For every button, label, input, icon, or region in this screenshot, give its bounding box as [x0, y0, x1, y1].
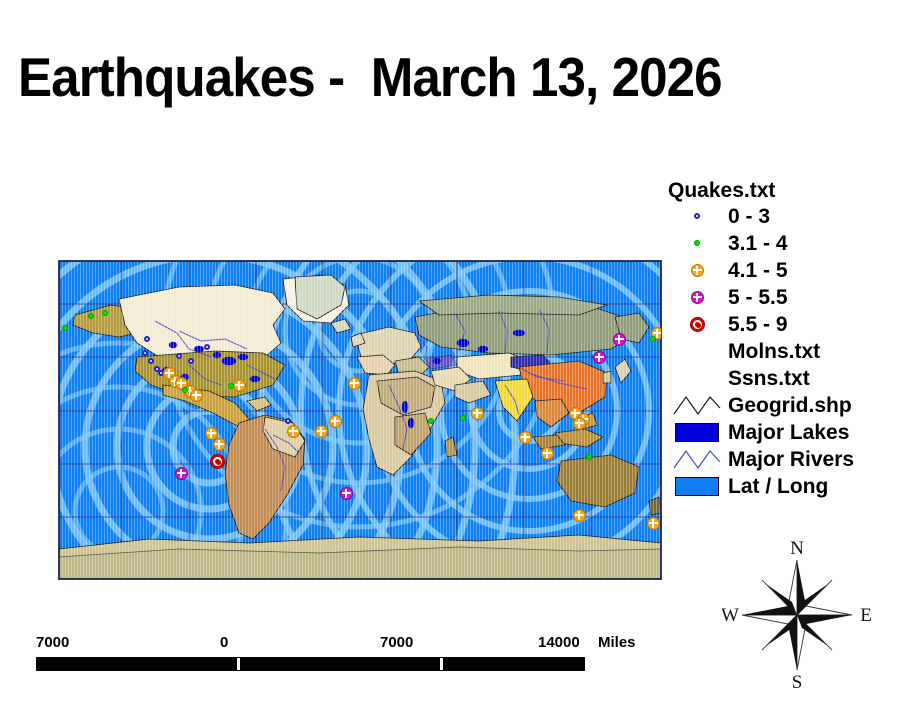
quake-marker-0-3[interactable] — [148, 358, 154, 364]
scale-label-1: 0 — [220, 634, 228, 651]
scale-label-2: 7000 — [380, 634, 413, 651]
world-map-graphic — [59, 261, 661, 579]
quake-marker-4.1-5[interactable] — [213, 438, 226, 451]
quake-marker-3.1-4[interactable] — [182, 387, 188, 393]
legend-symbol-cell — [666, 423, 728, 442]
scale-bar-labels: 7000 0 7000 14000 Miles — [36, 634, 636, 654]
quake-marker-4.1-5[interactable] — [348, 377, 361, 390]
quake-marker-0-3[interactable] — [142, 350, 148, 356]
black-zigzag-line-icon — [673, 394, 721, 416]
quake-marker-5-5.5[interactable] — [593, 351, 606, 364]
legend-layers: Molns.txtSsns.txtGeogrid.shpMajor LakesM… — [666, 338, 912, 500]
quake-marker-4.1-5[interactable] — [573, 417, 586, 430]
legend-label: Lat / Long — [728, 476, 828, 497]
legend: Quakes.txt 0 - 33.1 - 44.1 - 55 - 5.55.5… — [666, 180, 912, 500]
legend-row-quake-class[interactable]: 3.1 - 4 — [666, 230, 912, 257]
quake-marker-4.1-5[interactable] — [647, 517, 660, 530]
legend-label: Major Lakes — [728, 422, 849, 443]
compass-label-south: S — [792, 672, 803, 690]
legend-label: Geogrid.shp — [728, 395, 852, 416]
legend-row-layer[interactable]: Geogrid.shp — [666, 392, 912, 419]
map-poster: Earthquakes - March 13, 2026 — [0, 0, 920, 710]
quake-marker-4.1-5[interactable] — [315, 425, 328, 438]
quake-marker-4.1-5[interactable] — [573, 509, 586, 522]
quake-marker-5-5.5[interactable] — [340, 487, 353, 500]
quake-marker-4.1-5[interactable] — [541, 447, 554, 460]
legend-symbol-cell — [666, 394, 728, 416]
quake-marker-0-3[interactable] — [285, 418, 291, 424]
dark-blue-swatch-icon — [675, 423, 719, 442]
quake-marker-4.1-5[interactable] — [287, 425, 300, 438]
quake-marker-5-5.5[interactable] — [613, 333, 626, 346]
legend-symbol-cell — [666, 291, 728, 304]
compass-star-icon — [742, 560, 852, 670]
quake-marker-0-3[interactable] — [204, 344, 210, 350]
legend-label: 5 - 5.5 — [728, 287, 788, 308]
quake-marker-5-5.5[interactable] — [175, 467, 188, 480]
small-green-dot-icon — [694, 240, 700, 246]
quake-marker-3.1-4[interactable] — [62, 325, 68, 331]
legend-label: 0 - 3 — [728, 206, 770, 227]
quake-marker-3.1-4[interactable] — [102, 310, 108, 316]
light-blue-swatch-icon — [675, 477, 719, 496]
legend-row-layer[interactable]: Lat / Long — [666, 473, 912, 500]
legend-row-quake-class[interactable]: 0 - 3 — [666, 203, 912, 230]
scale-label-3: 14000 — [538, 634, 580, 651]
legend-label: Ssns.txt — [728, 368, 810, 389]
legend-row-quake-class[interactable]: 5 - 5.5 — [666, 284, 912, 311]
compass-rose: N E S W — [722, 540, 872, 690]
compass-label-west: W — [722, 605, 739, 626]
quake-marker-0-3[interactable] — [176, 353, 182, 359]
quake-marker-4.1-5[interactable] — [190, 389, 203, 402]
red-target-icon — [690, 317, 705, 332]
quake-marker-0-3[interactable] — [144, 336, 150, 342]
legend-row-quake-class[interactable]: 4.1 - 5 — [666, 257, 912, 284]
page-title: Earthquakes - March 13, 2026 — [18, 50, 722, 105]
legend-quake-classes: 0 - 33.1 - 44.1 - 55 - 5.55.5 - 9 — [666, 203, 912, 338]
quake-marker-4.1-5[interactable] — [233, 379, 246, 392]
orange-crosshair-icon — [691, 264, 704, 277]
magenta-crosshair-icon — [691, 291, 704, 304]
legend-symbol-cell — [666, 213, 728, 219]
quake-marker-3.1-4[interactable] — [428, 418, 434, 424]
legend-label: 3.1 - 4 — [728, 233, 788, 254]
legend-row-layer[interactable]: Molns.txt — [666, 338, 912, 365]
legend-title: Quakes.txt — [668, 180, 912, 203]
legend-symbol-cell — [666, 317, 728, 332]
legend-row-layer[interactable]: Major Rivers — [666, 446, 912, 473]
legend-symbol-cell — [666, 240, 728, 246]
quake-marker-5.5-9[interactable] — [210, 454, 225, 469]
legend-symbol-cell — [666, 264, 728, 277]
blue-zigzag-line-icon — [673, 448, 721, 470]
legend-row-layer[interactable]: Major Lakes — [666, 419, 912, 446]
legend-symbol-cell — [666, 477, 728, 496]
legend-row-layer[interactable]: Ssns.txt — [666, 365, 912, 392]
quake-marker-4.1-5[interactable] — [329, 415, 342, 428]
quake-marker-3.1-4[interactable] — [88, 313, 94, 319]
quake-marker-4.1-5[interactable] — [205, 427, 218, 440]
legend-label: 5.5 - 9 — [728, 314, 788, 335]
quake-marker-3.1-4[interactable] — [460, 415, 466, 421]
legend-label: Major Rivers — [728, 449, 854, 470]
quake-marker-4.1-5[interactable] — [471, 407, 484, 420]
quake-marker-3.1-4[interactable] — [228, 383, 234, 389]
quake-marker-0-3[interactable] — [188, 358, 194, 364]
quake-marker-4.1-5[interactable] — [519, 431, 532, 444]
compass-label-east: E — [860, 605, 872, 626]
legend-label: Molns.txt — [728, 341, 820, 362]
scale-units-label: Miles — [598, 634, 636, 651]
quake-marker-3.1-4[interactable] — [586, 454, 592, 460]
legend-row-quake-class[interactable]: 5.5 - 9 — [666, 311, 912, 338]
legend-symbol-cell — [666, 448, 728, 470]
small-blue-circle-icon — [694, 213, 700, 219]
scale-label-0: 7000 — [36, 634, 69, 651]
scale-bar: 7000 0 7000 14000 Miles — [36, 634, 636, 671]
quake-marker-3.1-4[interactable] — [650, 336, 656, 342]
legend-label: 4.1 - 5 — [728, 260, 788, 281]
scale-bar-graphic — [36, 657, 585, 671]
map-canvas[interactable] — [58, 260, 662, 580]
compass-label-north: N — [790, 540, 804, 559]
